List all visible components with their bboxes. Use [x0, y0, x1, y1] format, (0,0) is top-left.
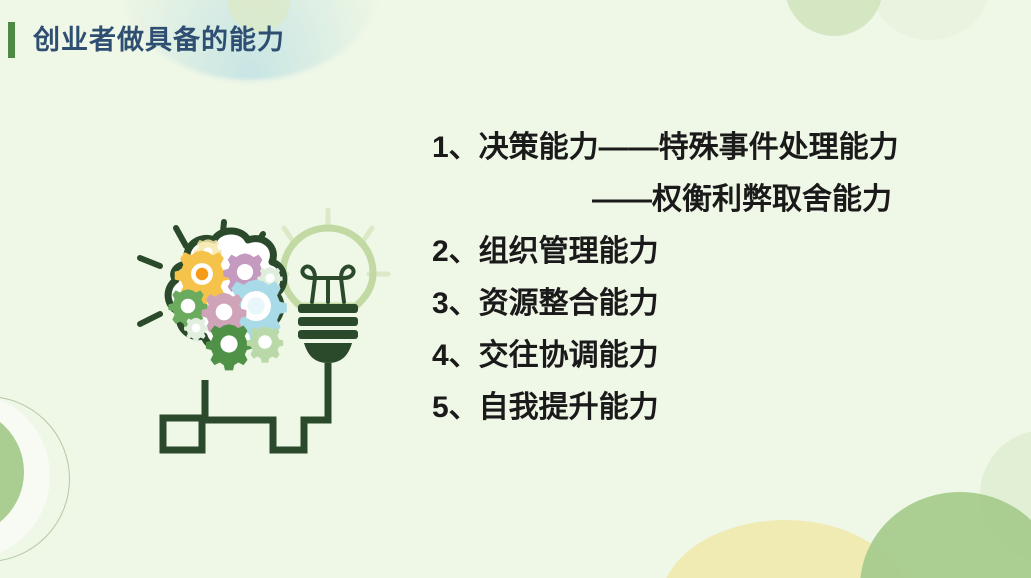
lightbulb-filament-icon — [302, 266, 353, 302]
decor-top-right-circle — [785, 0, 883, 36]
brain-gears-lightbulb-illustration — [132, 202, 414, 464]
list-item-1: 1、决策能力——特殊事件处理能力 — [432, 122, 992, 174]
slide-canvas: 创业者做具备的能力 — [0, 0, 1031, 578]
list-item-2: 2、组织管理能力 — [432, 226, 992, 278]
page-title: 创业者做具备的能力 — [33, 27, 285, 54]
slide-title-row: 创业者做具备的能力 — [0, 20, 285, 60]
decor-top-right-pale-circle — [870, 0, 990, 40]
decor-bottom-right-pale-circle — [980, 430, 1031, 560]
circuit-path-icon — [163, 363, 328, 450]
list-item-1-sub: ——权衡利弊取舍能力 — [432, 174, 992, 226]
lightbulb-base-icon — [298, 304, 358, 363]
title-accent-bar — [8, 22, 15, 58]
decor-bottom-left-halo — [0, 392, 50, 560]
capability-list: 1、决策能力——特殊事件处理能力 ——权衡利弊取舍能力 2、组织管理能力 3、资… — [432, 122, 992, 434]
list-item-5: 5、自我提升能力 — [432, 382, 992, 434]
decor-bottom-left-ring — [0, 396, 70, 562]
list-item-3: 3、资源整合能力 — [432, 278, 992, 330]
decor-bottom-left-circle — [0, 408, 24, 536]
decor-bottom-green-circle — [860, 492, 1031, 578]
decor-bottom-yellow-circle — [660, 520, 910, 578]
list-item-4: 4、交往协调能力 — [432, 330, 992, 382]
